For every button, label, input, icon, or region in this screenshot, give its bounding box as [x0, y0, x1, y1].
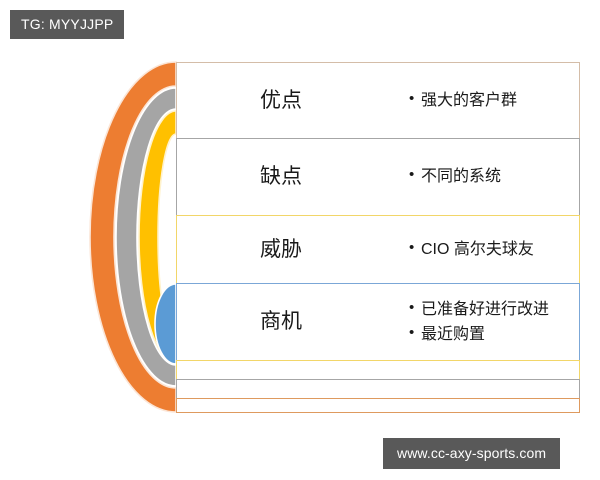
row-opportunities[interactable]: 商机 已准备好进行改进 最近购置: [176, 283, 580, 361]
bullet-item: CIO 高尔夫球友: [409, 239, 573, 261]
row-strengths[interactable]: 优点 强大的客户群: [176, 62, 580, 139]
row-label-opportunities: 商机: [177, 309, 385, 334]
row-mirror-gray[interactable]: [176, 379, 580, 399]
row-threats[interactable]: 威胁 CIO 高尔夫球友: [176, 215, 580, 284]
bullet-item: 强大的客户群: [409, 90, 573, 112]
row-label-weaknesses: 缺点: [177, 164, 385, 189]
bullet-item: 不同的系统: [409, 166, 573, 188]
row-bullets-threats: CIO 高尔夫球友: [385, 236, 579, 264]
row-mirror-gold[interactable]: [176, 360, 580, 380]
bullet-item: 已准备好进行改进: [409, 299, 573, 321]
row-label-threats: 威胁: [177, 237, 385, 262]
row-weaknesses[interactable]: 缺点 不同的系统: [176, 138, 580, 216]
source-tag: TG: MYYJJPP: [10, 10, 124, 39]
bullet-item: 最近购置: [409, 324, 573, 346]
row-mirror-orange[interactable]: [176, 398, 580, 413]
watermark-label: www.cc-axy-sports.com: [383, 438, 560, 469]
row-bullets-weaknesses: 不同的系统: [385, 163, 579, 191]
row-bullets-strengths: 强大的客户群: [385, 87, 579, 115]
row-label-strengths: 优点: [177, 88, 385, 113]
diagram-canvas: TG: MYYJJPP 优点 强大的客户群 缺点 不同的系统 威胁 CIO 高尔…: [0, 0, 600, 480]
row-bullets-opportunities: 已准备好进行改进 最近购置: [385, 296, 579, 348]
